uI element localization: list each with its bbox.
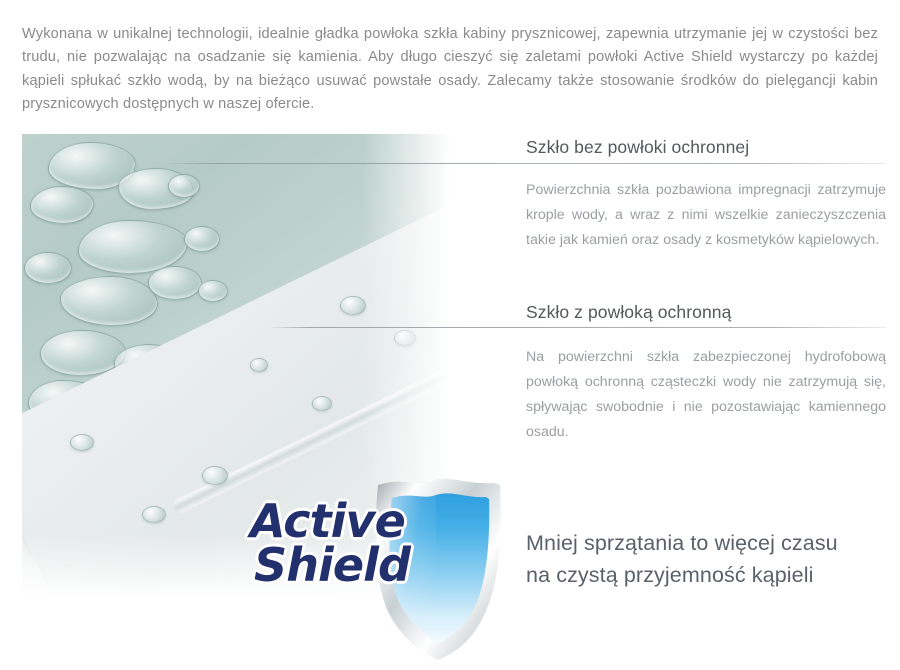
section-divider-middle [272,327,886,328]
water-blob [148,266,202,300]
tagline: Mniej sprzątania to więcej czasu na czys… [526,527,896,591]
water-bead [312,396,332,411]
logo-word-shield: Shield [254,543,440,587]
water-blob [184,226,220,252]
logo-wordmark: Active Shield [250,499,440,587]
water-bead [250,358,268,372]
logo-word-active: Active [250,499,440,543]
water-blob [198,280,228,302]
section-heading-uncoated: Szkło bez powłoki ochronnej [526,136,886,158]
active-shield-logo: Active Shield [250,465,512,665]
water-bead [142,506,166,523]
section-body-coated: Na powierzchni szkła zabezpieczonej hydr… [526,345,886,445]
section-body-uncoated: Powierzchnia szkła pozbawiona impregnacj… [526,178,886,253]
water-bead [70,434,94,451]
section-divider-top [168,163,886,164]
tagline-line-2: na czystą przyjemność kąpieli [526,559,896,591]
water-blob [168,174,200,198]
water-blob [30,186,94,224]
water-bead [202,466,228,485]
section-heading-coated: Szkło z powłoką ochronną [526,301,886,323]
water-blob [24,252,72,284]
intro-paragraph: Wykonana w unikalnej technologii, idealn… [22,23,878,117]
tagline-line-1: Mniej sprzątania to więcej czasu [526,527,896,559]
